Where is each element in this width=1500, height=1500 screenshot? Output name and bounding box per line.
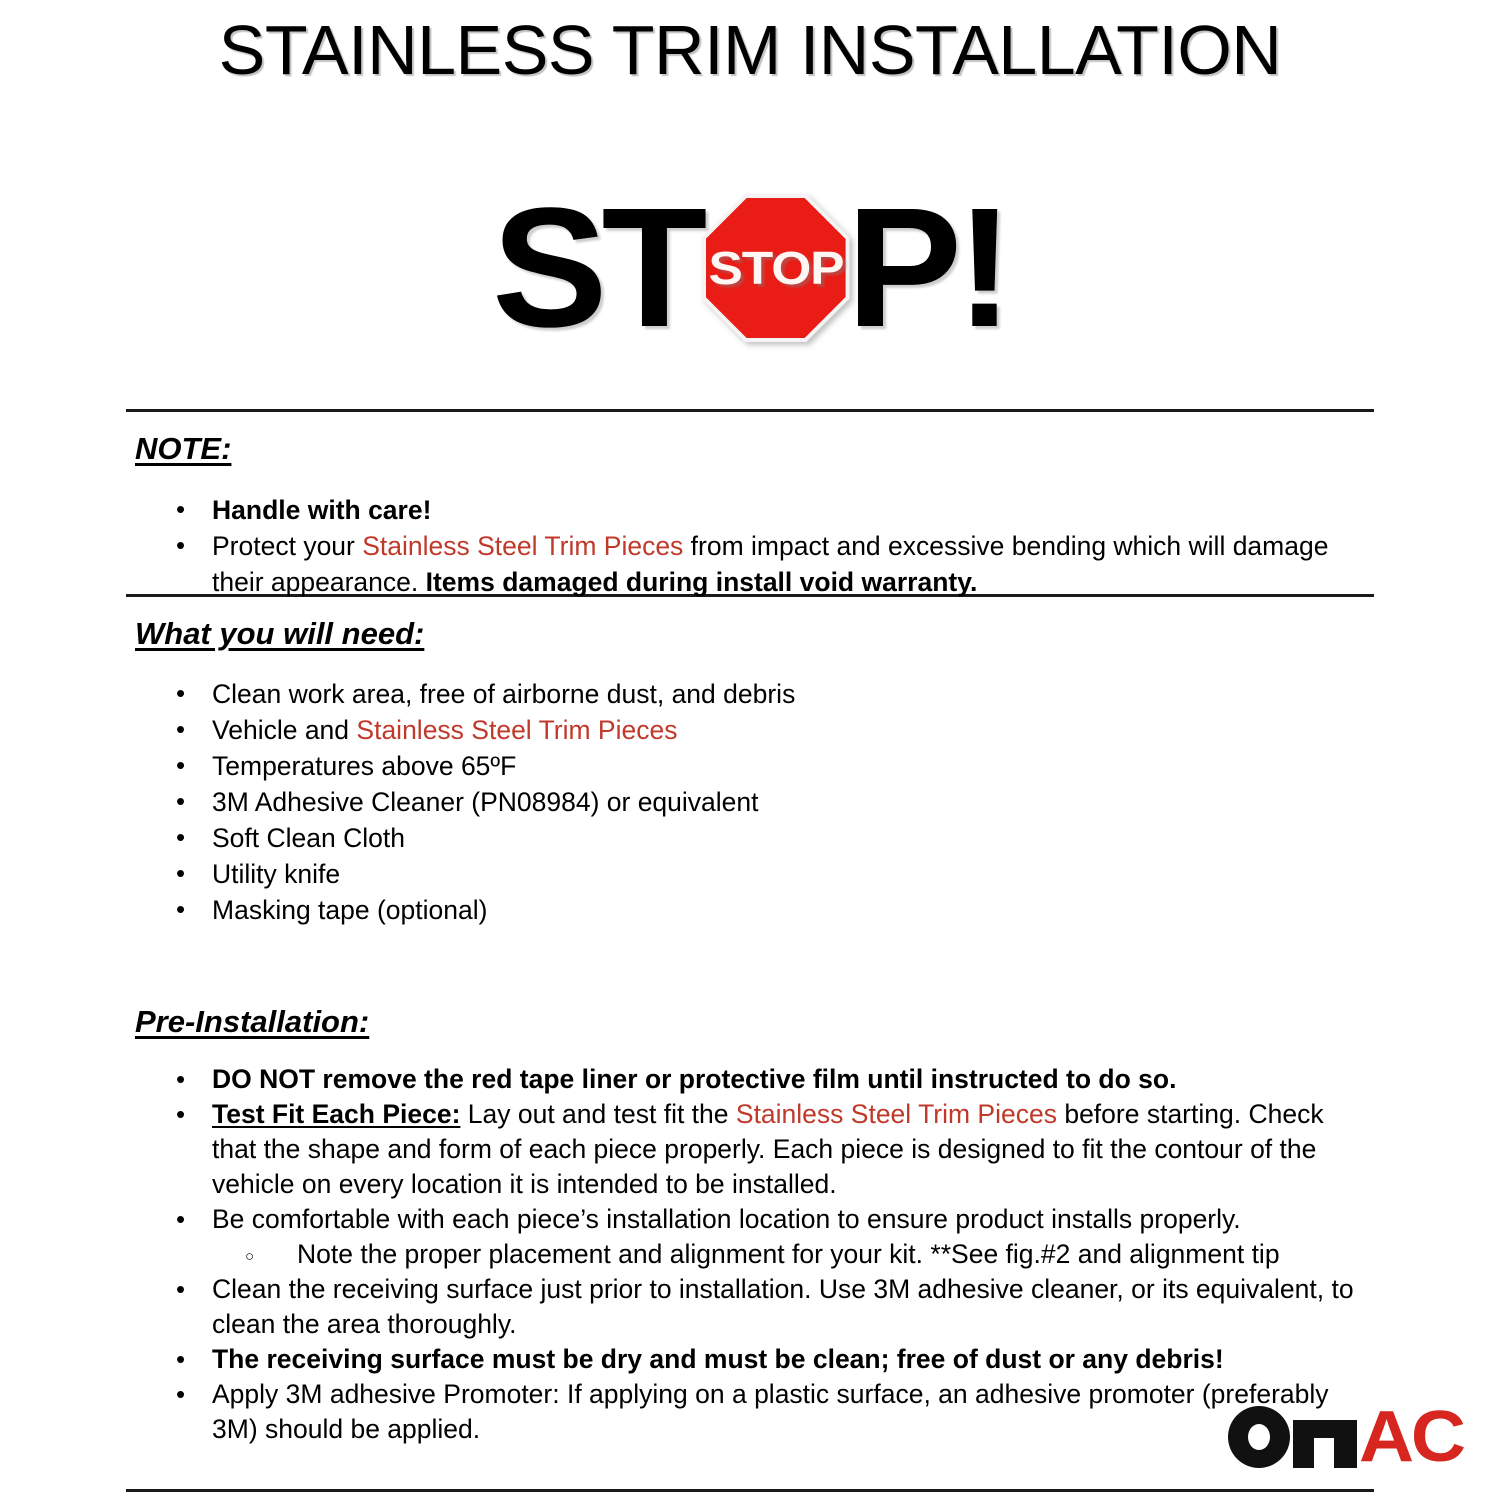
list-item: Vehicle and Stainless Steel Trim Pieces (0, 712, 1500, 748)
list-item-text: Masking tape (optional) (212, 895, 487, 925)
list-item-sub: Note the proper placement and alignment … (0, 1237, 1500, 1272)
page-title: STAINLESS TRIM INSTALLATION (0, 8, 1500, 92)
list-item: DO NOT remove the red tape liner or prot… (0, 1062, 1500, 1097)
list-item-emphasis: Items damaged during install void warran… (426, 567, 978, 597)
list-item-text: Handle with care! (212, 495, 431, 525)
note-list: Handle with care! Protect your Stainless… (0, 492, 1500, 600)
highlight-text: Stainless Steel Trim Pieces (736, 1099, 1057, 1129)
omac-letter-o-icon (1228, 1406, 1290, 1468)
list-item: Handle with care! (0, 492, 1500, 528)
list-item: Be comfortable with each piece’s install… (0, 1202, 1500, 1237)
omac-logo: AC (1228, 1398, 1478, 1476)
stop-prefix-letters: ST (492, 183, 701, 353)
list-item: Protect your Stainless Steel Trim Pieces… (0, 528, 1500, 600)
list-item-emphasis: DO NOT remove the red tape liner or prot… (212, 1064, 1176, 1094)
list-item-text: Note the proper placement and alignment … (297, 1239, 1280, 1269)
list-item: Test Fit Each Piece: Lay out and test fi… (0, 1097, 1500, 1202)
highlight-text: Stainless Steel Trim Pieces (362, 531, 683, 561)
list-item-text: Utility knife (212, 859, 340, 889)
list-item: Clean work area, free of airborne dust, … (0, 676, 1500, 712)
list-item-emphasis: The receiving surface must be dry and mu… (212, 1344, 1224, 1374)
stop-sign-label: STOP (693, 194, 859, 342)
divider-top (126, 409, 1374, 412)
list-item-text: Vehicle and (212, 715, 356, 745)
list-item-text: Clean work area, free of airborne dust, … (212, 679, 795, 709)
list-item: Soft Clean Cloth (0, 820, 1500, 856)
omac-letters-ac: AC (1359, 1406, 1463, 1468)
list-item-text: Clean the receiving surface just prior t… (212, 1274, 1354, 1339)
preinstallation-list: DO NOT remove the red tape liner or prot… (0, 1062, 1500, 1447)
needs-list: Clean work area, free of airborne dust, … (0, 676, 1500, 928)
list-item-text: 3M Adhesive Cleaner (PN08984) or equival… (212, 787, 759, 817)
list-item: Temperatures above 65ºF (0, 748, 1500, 784)
list-item: Masking tape (optional) (0, 892, 1500, 928)
section-heading-note: NOTE: (135, 430, 231, 468)
list-item-lead-label: Test Fit Each Piece: (212, 1099, 460, 1129)
list-item: The receiving surface must be dry and mu… (0, 1342, 1500, 1377)
stop-sign-icon: STOP (702, 194, 850, 342)
omac-letter-m-icon (1293, 1420, 1357, 1468)
list-item: Clean the receiving surface just prior t… (0, 1272, 1500, 1342)
section-heading-needs: What you will need: (135, 615, 424, 653)
stop-wordmark: ST STOP P! (494, 183, 1005, 353)
stop-suffix-letters: P! (846, 183, 1007, 353)
list-item-text: Protect your (212, 531, 362, 561)
list-item-text: Apply 3M adhesive Promoter: If applying … (212, 1379, 1329, 1444)
list-item: Utility knife (0, 856, 1500, 892)
list-item-text: Lay out and test fit the (460, 1099, 735, 1129)
divider-bottom (126, 1489, 1374, 1492)
list-item-text: Soft Clean Cloth (212, 823, 405, 853)
highlight-text: Stainless Steel Trim Pieces (356, 715, 677, 745)
section-heading-preinstallation: Pre-Installation: (135, 1003, 369, 1041)
list-item-text: Temperatures above 65ºF (212, 751, 516, 781)
stop-banner: ST STOP P! (0, 168, 1500, 368)
list-item-text: Be comfortable with each piece’s install… (212, 1204, 1241, 1234)
list-item: 3M Adhesive Cleaner (PN08984) or equival… (0, 784, 1500, 820)
